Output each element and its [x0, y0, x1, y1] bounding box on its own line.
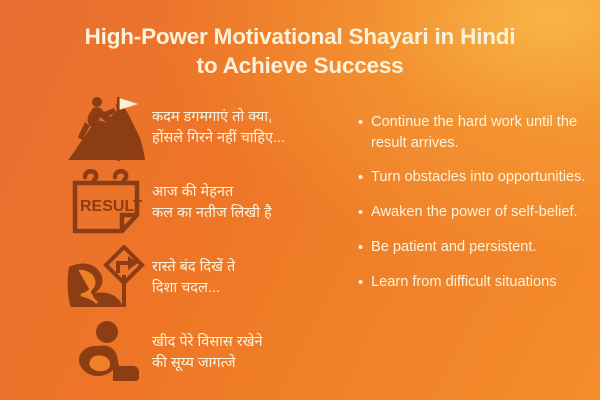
- shayari-item: रास्ते बंद दिखें ते दिशा चदल...: [64, 240, 364, 315]
- shayari-line-2: होंसले गिरने नहीं चाहिए...: [152, 128, 364, 149]
- bullet-text: Awaken the power of self-belief.: [371, 202, 594, 223]
- shayari-line-2: कल का नतीज लिखी है: [152, 203, 364, 224]
- list-item: • Learn from difficult situations: [358, 272, 594, 293]
- shayari-text: खीद पेरे विसास रखेने की सूय्य जागत्जे: [148, 332, 364, 374]
- shayari-item: RESULT आज की मेहनत कल का नतीज लिखी है: [64, 165, 364, 240]
- bullet-marker-icon: •: [358, 112, 371, 153]
- bullet-marker-icon: •: [358, 202, 371, 223]
- bullet-text: Continue the hard work until the result …: [371, 112, 594, 153]
- list-item: • Awaken the power of self-belief.: [358, 202, 594, 223]
- motivational-shayari-poster: High-Power Motivational Shayari in Hindi…: [0, 0, 600, 400]
- shayari-line-1: आज की मेहनत: [152, 184, 233, 200]
- shayari-item: कदम डगमगाएं तो क्या, होंसले गिरने नहीं च…: [64, 90, 364, 165]
- result-calendar-label: RESULT: [80, 198, 142, 215]
- bullet-text: Turn obstacles into opportunities.: [371, 167, 594, 188]
- shayari-item: खीद पेरे विसास रखेने की सूय्य जागत्जे: [64, 315, 364, 390]
- title-line-1: High-Power Motivational Shayari in Hindi: [28, 22, 572, 51]
- bullet-marker-icon: •: [358, 167, 371, 188]
- mountain-climber-flag-icon: [64, 92, 148, 164]
- winding-road-turn-sign-icon: [64, 245, 148, 311]
- list-item: • Be patient and persistent.: [358, 237, 594, 258]
- shayari-text: कदम डगमगाएं तो क्या, होंसले गिरने नहीं च…: [148, 107, 364, 149]
- bullet-marker-icon: •: [358, 237, 371, 258]
- shayari-line-2: की सूय्य जागत्जे: [152, 353, 364, 374]
- list-item: • Turn obstacles into opportunities.: [358, 167, 594, 188]
- result-calendar-icon: RESULT: [64, 169, 148, 237]
- shayari-list: कदम डगमगाएं तो क्या, होंसले गिरने नहीं च…: [64, 90, 364, 390]
- title-line-2: to Achieve Success: [28, 51, 572, 80]
- list-item: • Continue the hard work until the resul…: [358, 112, 594, 153]
- benefits-bullet-list: • Continue the hard work until the resul…: [358, 112, 594, 307]
- bullet-text: Be patient and persistent.: [371, 237, 594, 258]
- poster-title: High-Power Motivational Shayari in Hindi…: [0, 22, 600, 80]
- shayari-line-2: दिशा चदल...: [152, 278, 364, 299]
- meditating-person-icon: [64, 320, 148, 386]
- bullet-marker-icon: •: [358, 272, 371, 293]
- shayari-text: आज की मेहनत कल का नतीज लिखी है: [148, 182, 364, 224]
- shayari-line-1: कदम डगमगाएं तो क्या,: [152, 109, 272, 125]
- shayari-line-1: खीद पेरे विसास रखेने: [152, 334, 263, 350]
- bullet-text: Learn from difficult situations: [371, 272, 594, 293]
- shayari-text: रास्ते बंद दिखें ते दिशा चदल...: [148, 257, 364, 299]
- shayari-line-1: रास्ते बंद दिखें ते: [152, 259, 235, 275]
